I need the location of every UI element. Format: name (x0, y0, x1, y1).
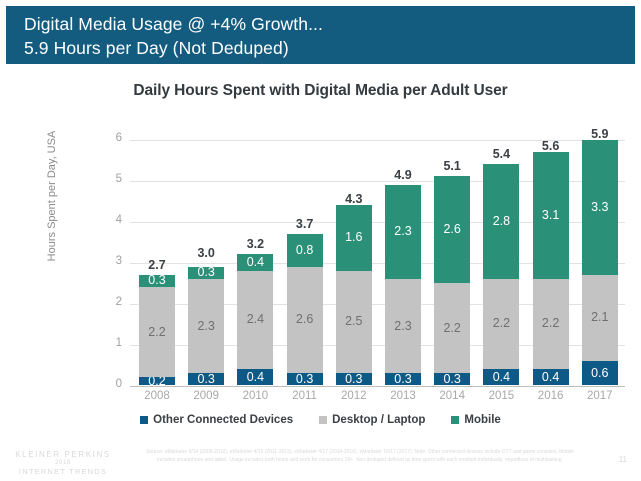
bar-segment-value: 2.1 (582, 311, 618, 324)
bar-segment-2016-mobile[interactable]: 3.1 (533, 152, 569, 279)
bar-segment-value: 2.6 (434, 223, 470, 236)
kleiner-perkins-logo: KLEINER PERKINS 2018 INTERNET TRENDS (8, 450, 118, 476)
bar-segment-value: 2.5 (336, 315, 372, 328)
bar-group-2012[interactable]: 0.32.51.6 (336, 0, 372, 481)
bar-segment-value: 0.3 (188, 267, 224, 279)
bar-segment-2009-other-connected-devices[interactable]: 0.3 (188, 373, 224, 385)
bar-segment-value: 0.4 (237, 256, 273, 269)
bar-segment-2013-other-connected-devices[interactable]: 0.3 (385, 373, 421, 385)
bar-segment-2016-desktop-laptop[interactable]: 2.2 (533, 279, 569, 369)
bar-segment-value: 0.4 (483, 371, 519, 384)
y-tick-5: 5 (100, 173, 122, 185)
bar-total-2012: 4.3 (331, 192, 377, 206)
bar-group-2009[interactable]: 0.32.30.3 (188, 0, 224, 481)
stacked-bar-chart: Hours Spent per Day, USA 0123456 2008200… (0, 0, 641, 481)
bar-total-2009: 3.0 (183, 246, 229, 260)
bar-total-2016: 5.6 (528, 139, 574, 153)
y-axis-title: Hours Spent per Day, USA (46, 96, 58, 296)
bar-segment-value: 0.2 (139, 377, 175, 385)
bar-total-2011: 3.7 (282, 217, 328, 231)
bar-segment-value: 3.3 (582, 201, 618, 214)
bar-segment-2013-mobile[interactable]: 2.3 (385, 185, 421, 279)
bar-segment-value: 1.6 (336, 231, 372, 244)
legend-label: Desktop / Laptop (332, 414, 425, 426)
bar-segment-value: 2.4 (237, 313, 273, 326)
bar-group-2016[interactable]: 0.42.23.1 (533, 0, 569, 481)
bar-segment-value: 2.2 (483, 317, 519, 330)
bar-segment-2017-desktop-laptop[interactable]: 2.1 (582, 275, 618, 361)
bar-segment-2014-desktop-laptop[interactable]: 2.2 (434, 283, 470, 373)
bar-segment-value: 0.3 (139, 275, 175, 287)
bar-total-2014: 5.1 (429, 159, 475, 173)
bar-group-2015[interactable]: 0.42.22.8 (483, 0, 519, 481)
bar-segment-value: 3.1 (533, 209, 569, 222)
bar-group-2014[interactable]: 0.32.22.6 (434, 0, 470, 481)
chart-legend: Other Connected DevicesDesktop / LaptopM… (0, 414, 641, 426)
bar-segment-value: 2.3 (385, 320, 421, 333)
bar-segment-value: 0.3 (336, 373, 372, 385)
bar-segment-value: 0.3 (434, 373, 470, 385)
bar-total-2017: 5.9 (577, 127, 623, 141)
page-number: 11 (619, 455, 627, 464)
bar-group-2008[interactable]: 0.22.20.3 (139, 0, 175, 481)
legend-swatch-icon (140, 416, 148, 424)
bar-segment-value: 0.4 (237, 371, 273, 384)
bar-segment-value: 0.4 (533, 371, 569, 384)
legend-label: Mobile (464, 414, 500, 426)
bar-segment-value: 0.3 (385, 373, 421, 385)
bar-segment-value: 2.8 (483, 215, 519, 228)
bar-total-2013: 4.9 (380, 168, 426, 182)
legend-item-other-connected-devices[interactable]: Other Connected Devices (140, 414, 293, 426)
bar-segment-value: 0.3 (188, 373, 224, 385)
legend-swatch-icon (319, 416, 327, 424)
bar-segment-2012-other-connected-devices[interactable]: 0.3 (336, 373, 372, 385)
bar-segment-2010-other-connected-devices[interactable]: 0.4 (237, 369, 273, 385)
bar-segment-2011-desktop-laptop[interactable]: 2.6 (287, 267, 323, 374)
y-tick-0: 0 (100, 378, 122, 390)
bar-segment-2013-desktop-laptop[interactable]: 2.3 (385, 279, 421, 373)
bar-segment-value: 2.2 (139, 326, 175, 339)
y-tick-3: 3 (100, 255, 122, 267)
bar-segment-2009-desktop-laptop[interactable]: 2.3 (188, 279, 224, 373)
brand-line-3: INTERNET TRENDS (8, 467, 118, 476)
bar-segment-2015-mobile[interactable]: 2.8 (483, 164, 519, 279)
brand-line-2: 2018 (8, 460, 118, 466)
y-tick-2: 2 (100, 296, 122, 308)
bar-segment-value: 2.2 (533, 317, 569, 330)
bar-group-2013[interactable]: 0.32.32.3 (385, 0, 421, 481)
bar-segment-2012-desktop-laptop[interactable]: 2.5 (336, 271, 372, 374)
bar-segment-value: 2.2 (434, 322, 470, 335)
bar-total-2008: 2.7 (134, 258, 180, 272)
bar-segment-value: 0.3 (287, 373, 323, 385)
bar-segment-2017-mobile[interactable]: 3.3 (582, 140, 618, 275)
bar-segment-2008-other-connected-devices[interactable]: 0.2 (139, 377, 175, 385)
source-footnote: Source: eMarketer 9/14 (2008-2010), eMar… (140, 449, 580, 464)
bar-segment-value: 0.8 (287, 244, 323, 257)
legend-item-desktop-laptop[interactable]: Desktop / Laptop (319, 414, 425, 426)
bar-segment-2008-desktop-laptop[interactable]: 2.2 (139, 287, 175, 377)
bar-segment-2011-other-connected-devices[interactable]: 0.3 (287, 373, 323, 385)
legend-swatch-icon (451, 416, 459, 424)
bar-segment-value: 2.3 (188, 320, 224, 333)
legend-label: Other Connected Devices (153, 414, 293, 426)
bar-segment-2012-mobile[interactable]: 1.6 (336, 205, 372, 271)
bar-segment-2009-mobile[interactable]: 0.3 (188, 267, 224, 279)
bar-segment-2014-other-connected-devices[interactable]: 0.3 (434, 373, 470, 385)
bar-segment-value: 2.3 (385, 225, 421, 238)
brand-line-1: KLEINER PERKINS (8, 450, 118, 459)
bar-group-2011[interactable]: 0.32.60.8 (287, 0, 323, 481)
bar-segment-2015-desktop-laptop[interactable]: 2.2 (483, 279, 519, 369)
y-tick-1: 1 (100, 337, 122, 349)
bar-segment-2008-mobile[interactable]: 0.3 (139, 275, 175, 287)
bar-segment-value: 0.6 (582, 367, 618, 380)
bar-segment-value: 2.6 (287, 313, 323, 326)
bar-segment-2011-mobile[interactable]: 0.8 (287, 234, 323, 267)
bar-segment-2016-other-connected-devices[interactable]: 0.4 (533, 369, 569, 385)
bar-total-2015: 5.4 (478, 147, 524, 161)
bar-total-2010: 3.2 (232, 237, 278, 251)
bar-segment-2017-other-connected-devices[interactable]: 0.6 (582, 361, 618, 386)
legend-item-mobile[interactable]: Mobile (451, 414, 500, 426)
bar-segment-2010-desktop-laptop[interactable]: 2.4 (237, 271, 273, 369)
bar-segment-2014-mobile[interactable]: 2.6 (434, 176, 470, 283)
y-tick-4: 4 (100, 214, 122, 226)
y-tick-6: 6 (100, 132, 122, 144)
bar-group-2017[interactable]: 0.62.13.3 (582, 0, 618, 481)
bar-segment-2010-mobile[interactable]: 0.4 (237, 254, 273, 270)
bar-segment-2015-other-connected-devices[interactable]: 0.4 (483, 369, 519, 385)
